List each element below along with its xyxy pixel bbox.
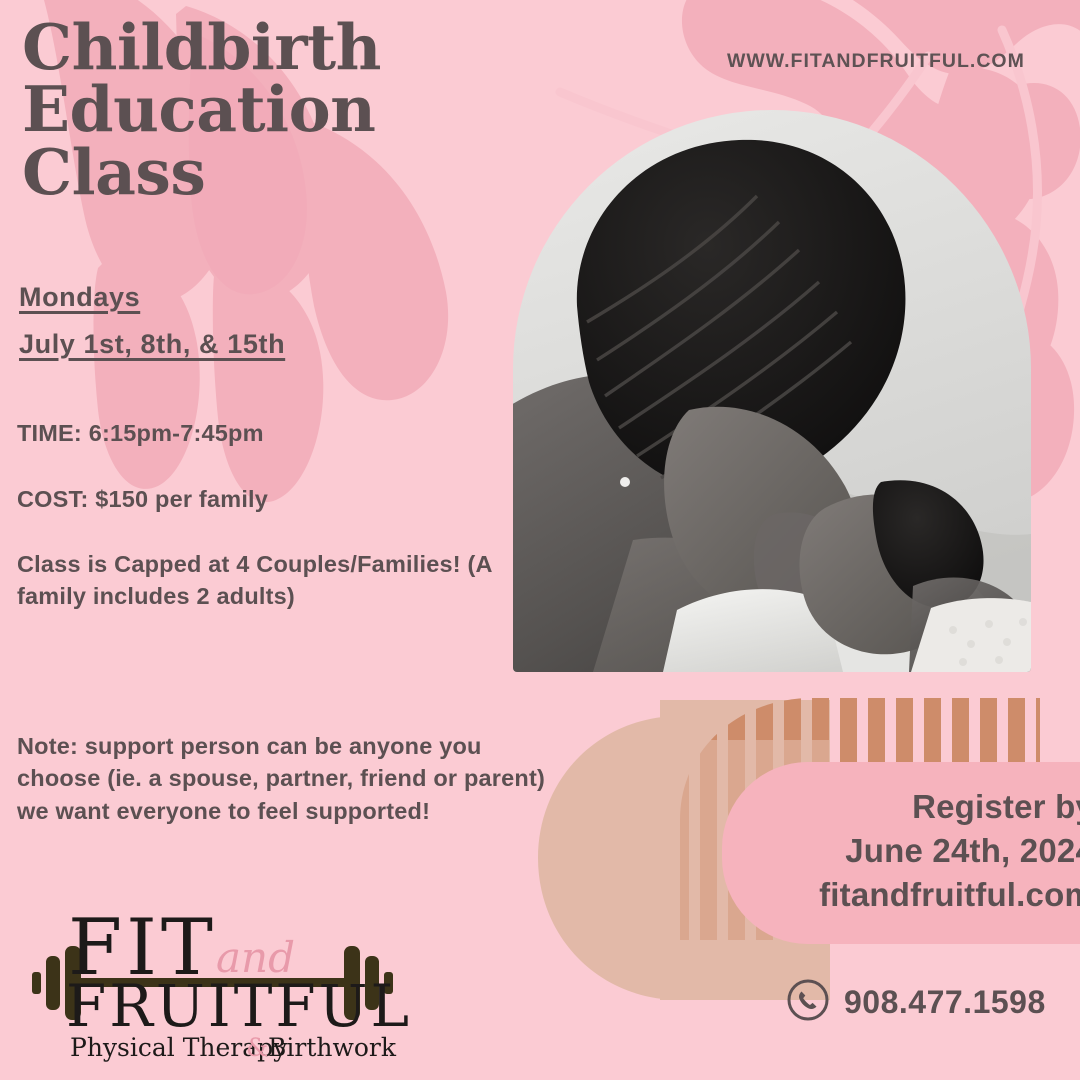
register-callout[interactable]: Register by June 24th, 2024 fitandfruitf… bbox=[722, 762, 1080, 944]
headline-line-3: Class bbox=[22, 141, 492, 203]
photo-illustration bbox=[513, 110, 1031, 672]
logo-svg: FIT and FRUITFUL Physical Therapy & Birt… bbox=[18, 898, 408, 1070]
phone-contact[interactable]: 908.477.1598 bbox=[786, 978, 1046, 1027]
phone-number[interactable]: 908.477.1598 bbox=[844, 984, 1046, 1021]
register-line-1: Register by bbox=[722, 788, 1080, 826]
register-line-2: June 24th, 2024 bbox=[722, 832, 1080, 870]
detail-capacity: Class is Capped at 4 Couples/Families! (… bbox=[17, 549, 497, 612]
logo-tagline-part2: Birthwork bbox=[268, 1033, 397, 1062]
schedule-day: Mondays bbox=[19, 282, 499, 313]
detail-cost: COST: $150 per family bbox=[17, 484, 497, 516]
flyer-canvas: WWW.FITANDFRUITFUL.COM Childbirth Educat… bbox=[0, 0, 1080, 1080]
detail-time: TIME: 6:15pm-7:45pm bbox=[17, 418, 497, 450]
details-block: TIME: 6:15pm-7:45pm COST: $150 per famil… bbox=[17, 418, 497, 613]
class-photo bbox=[513, 110, 1031, 672]
schedule-block: Mondays July 1st, 8th, & 15th bbox=[19, 282, 499, 360]
schedule-dates: July 1st, 8th, & 15th bbox=[19, 329, 499, 360]
page-title: Childbirth Education Class bbox=[22, 16, 492, 203]
logo-tagline-amp: & bbox=[246, 1033, 268, 1062]
logo-word-fruitful: FRUITFUL bbox=[66, 972, 408, 1040]
headline-line-1: Childbirth bbox=[22, 16, 492, 78]
support-note: Note: support person can be anyone you c… bbox=[17, 730, 557, 827]
website-url: WWW.FITANDFRUITFUL.COM bbox=[727, 50, 1025, 73]
phone-circle-icon bbox=[786, 978, 830, 1027]
brand-logo: FIT and FRUITFUL Physical Therapy & Birt… bbox=[18, 898, 408, 1070]
headline-line-2: Education bbox=[22, 78, 492, 140]
register-website[interactable]: fitandfruitful.com bbox=[722, 876, 1080, 914]
